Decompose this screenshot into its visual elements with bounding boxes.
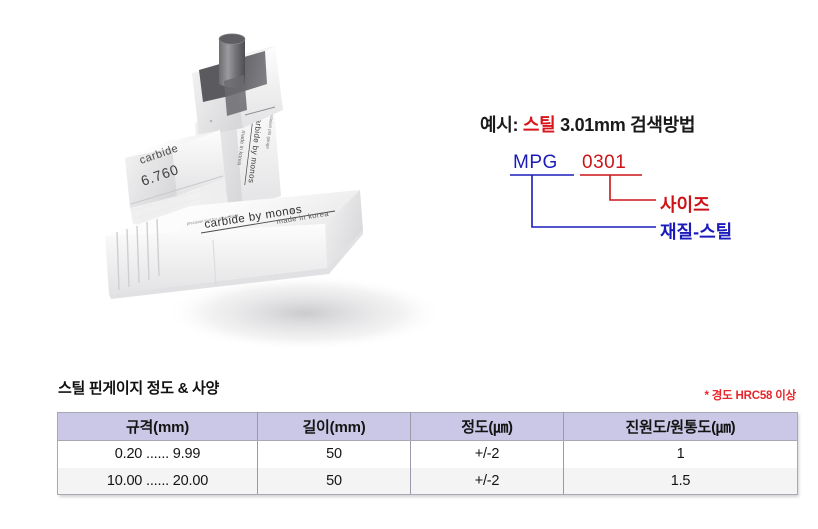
- example-heading: 예시: 스틸 3.01mm 검색방법: [480, 111, 695, 137]
- material-leader-line: [532, 175, 656, 227]
- code-number: 0301: [582, 152, 626, 174]
- spec-section-title: 스틸 핀게이지 정도 & 사양: [58, 377, 219, 398]
- cell-roundness: 1: [564, 441, 798, 468]
- column-header-length: 길이(mm): [258, 413, 411, 441]
- size-leader-line: [610, 175, 656, 200]
- cell-accuracy: +/-2: [411, 468, 564, 495]
- cell-length: 50: [258, 441, 411, 468]
- table-header-row: 규격(mm) 길이(mm) 정도(㎛) 진원도/원통도(㎛): [58, 413, 798, 441]
- search-code-diagram: 예시: 스틸 3.01mm 검색방법 MPG 0301 사이즈 재질-스틸: [470, 105, 810, 250]
- column-header-size: 규격(mm): [58, 413, 258, 441]
- label-material: 재질-스틸: [660, 218, 732, 244]
- hardness-note: * 경도 HRC58 이상: [705, 387, 797, 403]
- label-size: 사이즈: [660, 191, 710, 217]
- column-header-roundness: 진원도/원통도(㎛): [564, 413, 798, 441]
- cell-roundness: 1.5: [564, 468, 798, 495]
- example-prefix: 예시:: [480, 115, 523, 135]
- table-row: 0.20 ...... 9.99 50 +/-2 1: [58, 441, 798, 468]
- spec-table-container: 규격(mm) 길이(mm) 정도(㎛) 진원도/원통도(㎛) 0.20 ....…: [57, 412, 797, 495]
- product-photo: carbide by monos made in korea precision…: [95, 18, 465, 363]
- code-prefix-mpg: MPG: [513, 152, 558, 174]
- example-material: 스틸: [523, 115, 556, 135]
- product-photo-illustration: carbide by monos made in korea precision…: [95, 18, 465, 363]
- spec-table: 규격(mm) 길이(mm) 정도(㎛) 진원도/원통도(㎛) 0.20 ....…: [57, 412, 798, 495]
- cell-size: 10.00 ...... 20.00: [58, 468, 258, 495]
- cell-length: 50: [258, 468, 411, 495]
- cell-size: 0.20 ...... 9.99: [58, 441, 258, 468]
- column-header-accuracy: 정도(㎛): [411, 413, 564, 441]
- table-row: 10.00 ...... 20.00 50 +/-2 1.5: [58, 468, 798, 495]
- example-rest: 3.01mm 검색방법: [555, 115, 695, 135]
- cell-accuracy: +/-2: [411, 441, 564, 468]
